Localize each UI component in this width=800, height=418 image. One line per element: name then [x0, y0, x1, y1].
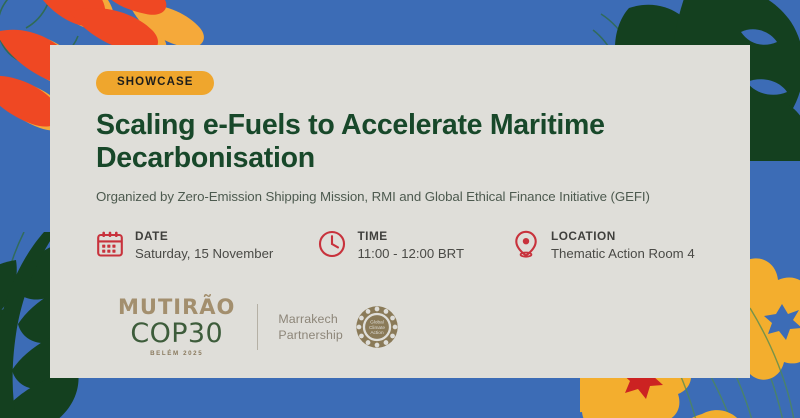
- detail-date: DATE Saturday, 15 November: [96, 229, 318, 264]
- status-badge: SHOWCASE: [96, 71, 214, 95]
- detail-time-value: 11:00 - 12:00 BRT: [357, 245, 464, 263]
- marrakech-line-1: Marrakech: [278, 311, 342, 327]
- detail-location: LOCATION Thematic Action Room 4: [512, 229, 720, 264]
- global-climate-action-seal: Global Climate Action: [354, 304, 400, 350]
- cop30-logo-belem: BELÉM 2025: [118, 351, 235, 357]
- clock-icon: [318, 230, 346, 258]
- cop30-logo-mutirao: MUTIRÃO: [118, 297, 235, 318]
- detail-date-label: DATE: [135, 229, 273, 244]
- organizer-text: Organized by Zero-Emission Shipping Miss…: [96, 188, 720, 205]
- seal-line-1: Global: [370, 320, 384, 326]
- detail-location-label: LOCATION: [551, 229, 695, 244]
- card-content: SHOWCASE Scaling e-Fuels to Accelerate M…: [96, 71, 720, 263]
- seal-line-3: Action: [370, 330, 384, 336]
- page-title: Scaling e-Fuels to Accelerate Maritime D…: [96, 109, 696, 177]
- seal-line-2: Climate: [369, 325, 385, 331]
- calendar-icon: [96, 230, 124, 258]
- event-details-row: DATE Saturday, 15 November TIME 11:00 - …: [96, 229, 720, 264]
- map-pin-icon: [512, 230, 540, 258]
- event-card: SHOWCASE Scaling e-Fuels to Accelerate M…: [50, 45, 750, 378]
- cop30-logo: MUTIRÃO COP30 BELÉM 2025: [118, 297, 235, 357]
- cop30-logo-cop30: COP30: [118, 320, 235, 347]
- detail-date-value: Saturday, 15 November: [135, 245, 273, 263]
- detail-time-label: TIME: [357, 229, 464, 244]
- marrakech-line-2: Partnership: [278, 327, 342, 343]
- detail-time: TIME 11:00 - 12:00 BRT: [318, 229, 512, 264]
- detail-location-value: Thematic Action Room 4: [551, 245, 695, 263]
- logo-row: MUTIRÃO COP30 BELÉM 2025 Marrakech Partn…: [118, 297, 400, 357]
- marrakech-partnership-logo: Marrakech Partnership: [257, 304, 399, 350]
- event-poster: SHOWCASE Scaling e-Fuels to Accelerate M…: [0, 0, 800, 418]
- marrakech-partnership-text: Marrakech Partnership: [278, 311, 342, 344]
